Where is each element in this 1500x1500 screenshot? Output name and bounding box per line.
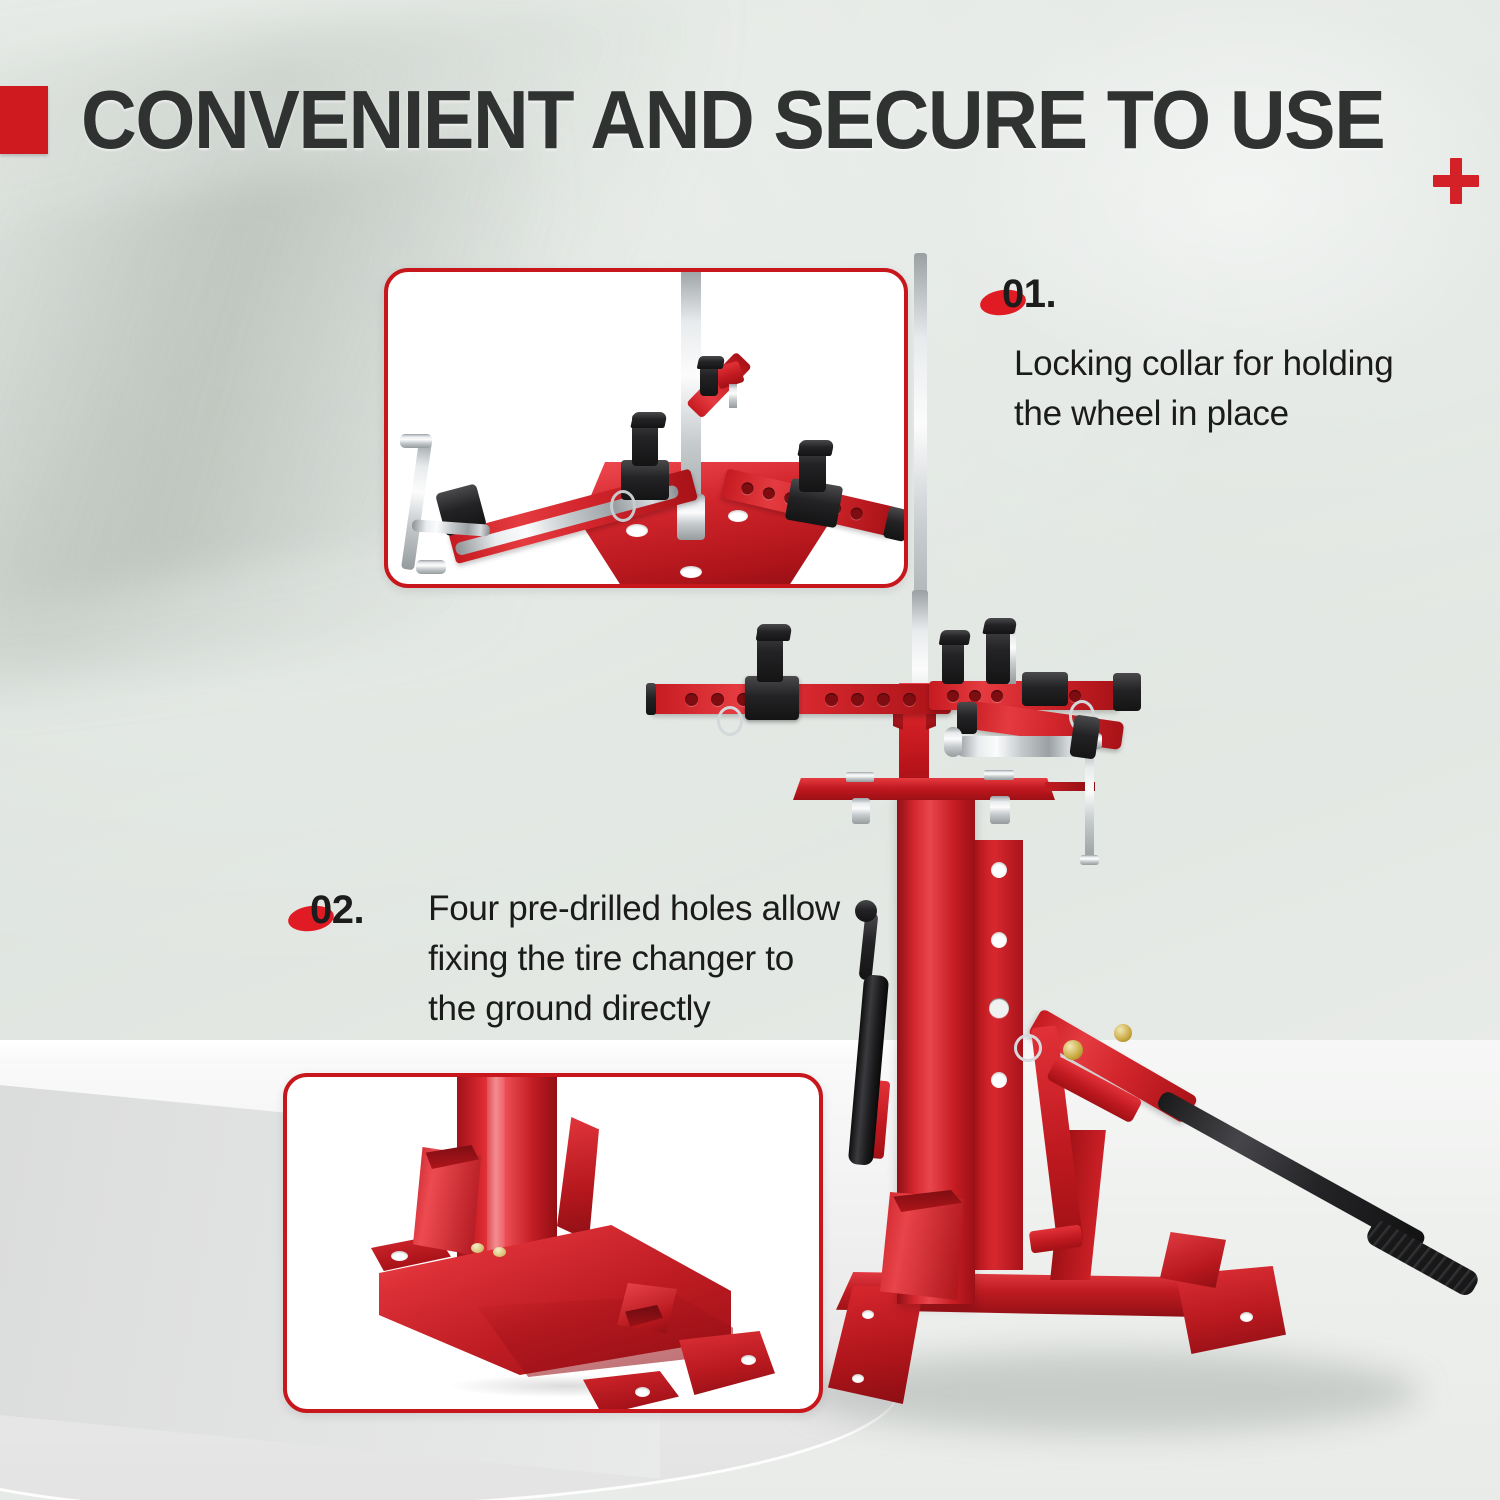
page-header: CONVENIENT AND SECURE TO USE (0, 84, 1482, 156)
plus-icon (1433, 158, 1479, 204)
inset-top-small-jaw-hook (697, 356, 726, 369)
clamp-jaw-right-outer-hook (982, 618, 1017, 634)
inset-bottom-bolt-a (471, 1243, 484, 1253)
callout-01-number: 01. (1002, 272, 1056, 316)
clamp-block-right (1022, 672, 1068, 706)
page-title: CONVENIENT AND SECURE TO USE (81, 84, 1384, 156)
callout-01-number-group: 01. (1002, 272, 1056, 317)
callout-01-text: Locking collar for holding the wheel in … (1014, 339, 1393, 439)
platform-bolt-left-head (846, 772, 874, 782)
callout-02-number-group: 02. (310, 888, 364, 933)
callout-01-text-line-1: Locking collar for holding (1014, 339, 1393, 389)
inset-top-clamp-jaw-right-hook (797, 440, 834, 456)
inset-bottom-bolt-b (493, 1247, 506, 1257)
inset-bottom-column-highlight (487, 1073, 505, 1263)
knurled-chrome-roller (955, 736, 1085, 757)
clamp-arm-left (651, 684, 951, 714)
infographic-canvas: CONVENIENT AND SECURE TO USE (0, 0, 1500, 1500)
callout-01: 01. Locking collar for holding the wheel… (1002, 272, 1393, 439)
inset-bottom-flange-right (679, 1331, 775, 1395)
inset-bottom-photo (287, 1077, 819, 1409)
platform-bolt-left-shaft (852, 798, 870, 824)
clamp-arm-left-endcap (646, 683, 656, 715)
clamp-arm-right-endcap (1113, 673, 1141, 711)
callout-02-number: 02. (310, 888, 364, 932)
inset-top-small-jaw-rod (729, 384, 737, 408)
pedal-catch-block (1160, 1232, 1226, 1288)
inset-bottom-shadow (407, 1373, 727, 1399)
adjustment-screw-foot (1080, 855, 1099, 865)
callout-02: 02. Four pre-drilled holes allow fixing … (310, 888, 840, 1034)
display-podium-top (0, 1040, 900, 1064)
inset-bottom-rear-gusset (557, 1117, 599, 1241)
linkage-retaining-ring (1014, 1034, 1042, 1062)
clamp-jaw-right-inner-hook (939, 630, 972, 645)
turntable-platform (793, 778, 1055, 800)
inset-top-locking-pin (401, 440, 432, 571)
adjustment-screw-rod (1085, 744, 1094, 862)
roller-collar-left (944, 727, 962, 757)
inset-card-locking-collar (384, 268, 908, 588)
linkage-bolt-upper (1114, 1024, 1132, 1042)
callout-02-text-line-2: fixing the tire changer to (428, 934, 840, 984)
callout-02-text-line-3: the ground directly (428, 984, 840, 1034)
inset-top-clamp-jaw-left-hook (630, 412, 667, 428)
callout-02-text-line-1: Four pre-drilled holes allow (428, 884, 840, 934)
locking-pin-ring-left (717, 706, 743, 736)
bead-breaker-pivot-left (957, 702, 977, 734)
inset-top-photo (388, 272, 904, 584)
platform-bolt-right-head (984, 770, 1014, 780)
callout-02-text: Four pre-drilled holes allow fixing the … (428, 884, 840, 1034)
clamp-block-left (745, 676, 799, 720)
inset-card-predrilled-holes (283, 1073, 823, 1413)
inset-top-locking-pin-foot (416, 560, 446, 574)
header-square-marker (0, 86, 48, 154)
linkage-bolt-lower (1063, 1040, 1083, 1060)
gas-strut-ball-end (855, 900, 877, 922)
inset-top-pin-ring (610, 490, 636, 522)
platform-bolt-right-shaft (990, 796, 1010, 824)
inset-top-locking-pin-head (400, 434, 432, 448)
callout-01-text-line-2: the wheel in place (1014, 389, 1393, 439)
clamp-jaw-left-hook (756, 624, 793, 641)
